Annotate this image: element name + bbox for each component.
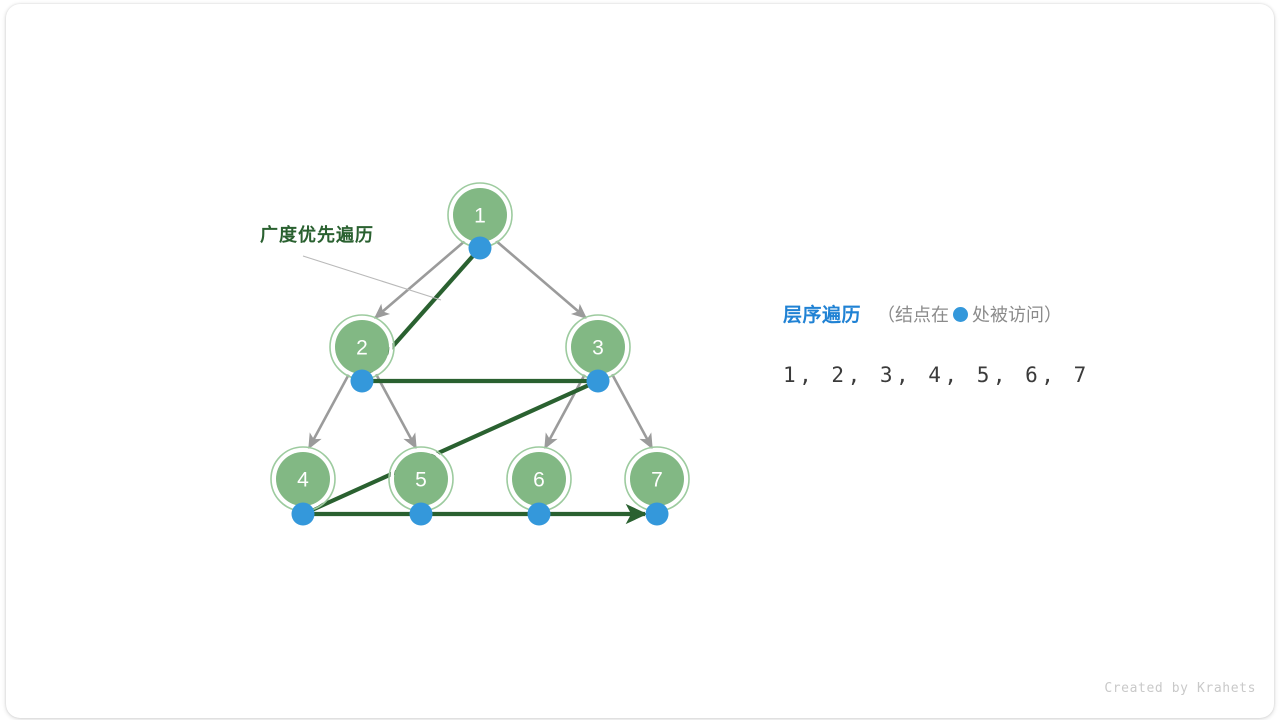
visit-dot-node-1[interactable] — [469, 237, 492, 260]
legend-note-after: 处被访问） — [972, 301, 1062, 327]
tree-edge-1-3 — [495, 240, 586, 318]
bfs-annotation-label: 广度优先遍历 — [260, 224, 374, 245]
node-label: 2 — [356, 337, 368, 360]
tree-edge-3-7 — [612, 374, 652, 448]
node-label: 6 — [533, 469, 545, 492]
legend-block: 层序遍历 （结点在 处被访问） — [783, 300, 1203, 327]
node-label: 5 — [415, 469, 427, 492]
tree-node-7[interactable]: 7 — [625, 447, 689, 511]
tree-node-6[interactable]: 6 — [507, 447, 571, 511]
diagram-canvas: 1 2 3 4 — [0, 0, 1280, 720]
tree-edge-2-5 — [376, 374, 416, 448]
tree-node-2[interactable]: 2 — [330, 315, 394, 379]
legend-note: （结点在 处被访问） — [877, 301, 1062, 327]
legend-title: 层序遍历 — [783, 300, 861, 327]
visit-dot-node-7[interactable] — [646, 503, 669, 526]
visit-dot-node-5[interactable] — [410, 503, 433, 526]
node-label: 4 — [297, 469, 309, 492]
node-label: 7 — [651, 469, 663, 492]
legend-note-before: （结点在 — [877, 301, 949, 327]
tree-node-3[interactable]: 3 — [566, 315, 630, 379]
tree-node-4[interactable]: 4 — [271, 447, 335, 511]
tree-edge-2-4 — [309, 374, 349, 448]
visit-dot-icon — [953, 307, 968, 322]
traversal-sequence: 1, 2, 3, 4, 5, 6, 7 — [783, 363, 1090, 387]
credit-text: Created by Krahets — [1104, 681, 1256, 696]
visit-dot-node-6[interactable] — [528, 503, 551, 526]
node-label: 1 — [474, 205, 486, 228]
tree-edge-3-6 — [545, 374, 585, 448]
visit-dot-node-3[interactable] — [587, 370, 610, 393]
legend-heading-row: 层序遍历 （结点在 处被访问） — [783, 300, 1203, 327]
tree-node-5[interactable]: 5 — [389, 447, 453, 511]
visit-dot-node-2[interactable] — [351, 370, 374, 393]
visit-dot-node-4[interactable] — [292, 503, 315, 526]
node-label: 3 — [592, 337, 604, 360]
bfs-annotation: 广度优先遍历 — [260, 224, 441, 300]
binary-tree-figure: 1 2 3 4 — [0, 0, 1280, 720]
